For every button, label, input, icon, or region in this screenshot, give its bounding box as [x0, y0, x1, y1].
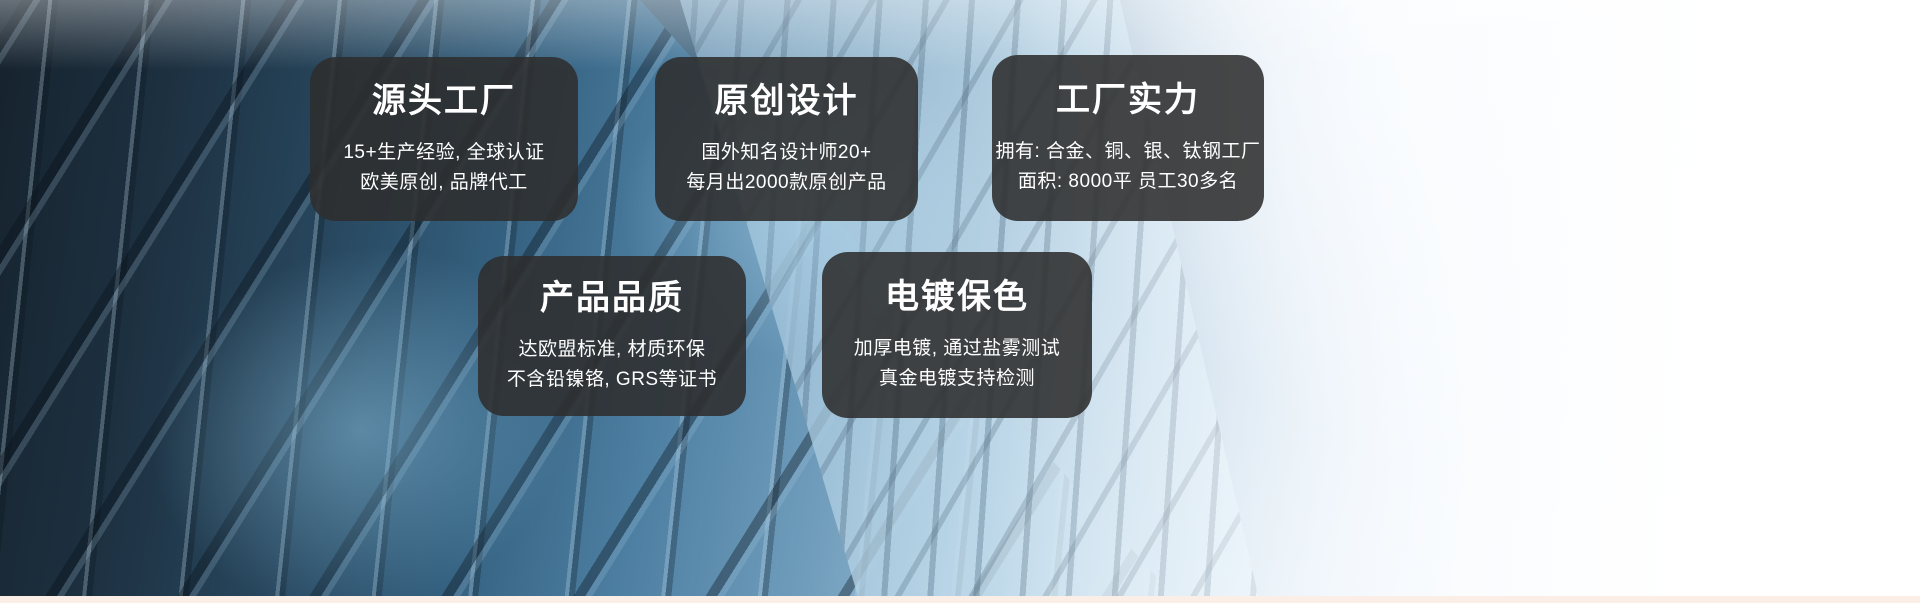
feature-card-title: 产品品质	[540, 278, 684, 319]
bottom-accent-strip	[0, 596, 1920, 603]
feature-card-title: 源头工厂	[372, 81, 516, 122]
feature-card-description-line: 面积: 8000平 员工30多名	[995, 167, 1260, 196]
feature-card-description-line: 国外知名设计师20+	[686, 138, 886, 167]
feature-card-description-line: 拥有: 合金、铜、银、钛钢工厂	[995, 137, 1260, 166]
feature-card-description-line: 达欧盟标准, 材质环保	[507, 335, 717, 364]
factory-advantages-banner: 源头工厂 15+生产经验, 全球认证 欧美原创, 品牌代工 原创设计 国外知名设…	[0, 0, 1920, 603]
feature-card-description-line: 加厚电镀, 通过盐雾测试	[854, 334, 1061, 363]
feature-card-description-line: 不含铅镍铬, GRS等证书	[507, 365, 717, 394]
feature-card-product-quality[interactable]: 产品品质 达欧盟标准, 材质环保 不含铅镍铬, GRS等证书	[478, 256, 746, 416]
feature-card-original-design[interactable]: 原创设计 国外知名设计师20+ 每月出2000款原创产品	[655, 57, 918, 221]
feature-card-description-line: 真金电镀支持检测	[854, 364, 1061, 393]
feature-card-description-line: 欧美原创, 品牌代工	[343, 168, 544, 197]
feature-card-factory-strength[interactable]: 工厂实力 拥有: 合金、铜、银、钛钢工厂 面积: 8000平 员工30多名	[992, 55, 1264, 221]
feature-card-description: 加厚电镀, 通过盐雾测试 真金电镀支持检测	[854, 334, 1061, 393]
feature-card-description: 国外知名设计师20+ 每月出2000款原创产品	[686, 138, 886, 197]
feature-card-source-factory[interactable]: 源头工厂 15+生产经验, 全球认证 欧美原创, 品牌代工	[310, 57, 578, 221]
white-fade-overlay-top	[0, 0, 1920, 70]
feature-card-plating-color[interactable]: 电镀保色 加厚电镀, 通过盐雾测试 真金电镀支持检测	[822, 252, 1092, 418]
feature-card-title: 工厂实力	[1056, 80, 1200, 121]
feature-card-description-line: 15+生产经验, 全球认证	[343, 138, 544, 167]
feature-card-description-line: 每月出2000款原创产品	[686, 168, 886, 197]
feature-card-title: 电镀保色	[885, 277, 1029, 318]
feature-card-description: 达欧盟标准, 材质环保 不含铅镍铬, GRS等证书	[507, 335, 717, 394]
feature-card-description: 拥有: 合金、铜、银、钛钢工厂 面积: 8000平 员工30多名	[995, 137, 1260, 196]
feature-card-title: 原创设计	[715, 81, 859, 122]
feature-card-description: 15+生产经验, 全球认证 欧美原创, 品牌代工	[343, 138, 544, 197]
